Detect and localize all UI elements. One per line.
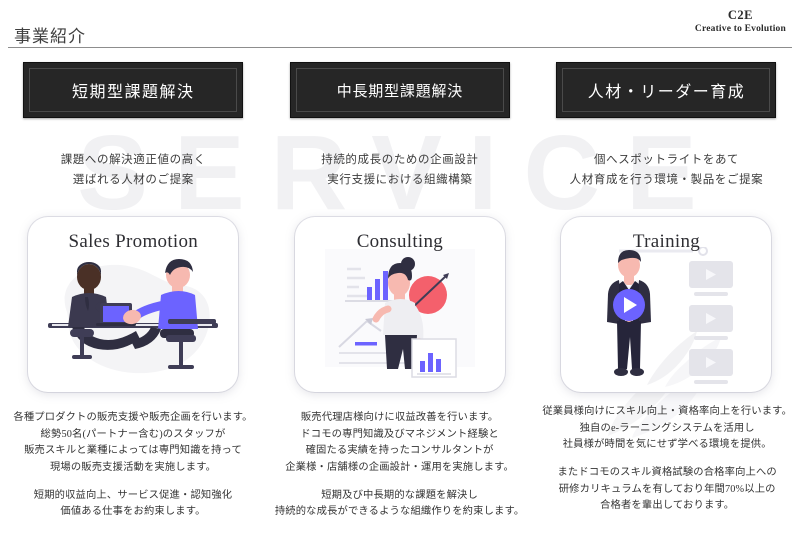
subtitle-line-1: 課題への解決適正値の高く [0, 150, 267, 170]
column-body-text: 従業員様向けにスキル向上・資格率向上を行います。 独自のe-ラーニングシステムを… [527, 404, 800, 515]
paragraph-1-line-1: 各種プロダクトの販売支援や販売企画を行います。 [13, 412, 252, 423]
paragraph-1-line-1: 販売代理店様向けに収益改善を行います。 [301, 412, 498, 423]
brand-logo: C2E Creative to Evolution [695, 8, 786, 36]
column-subtitle: 個へスポットライトをあて 人材育成を行う環境・製品をご提案 [533, 150, 800, 190]
paragraph-2-line-1: 短期及び中長期的な課題を解決し [321, 490, 478, 501]
e-learning-video-man-illustration [561, 247, 771, 392]
brand-name: C2E [695, 8, 786, 24]
service-column-training: 人材・リーダー育成 個へスポットライトをあて 人材育成を行う環境・製品をご提案 … [533, 52, 800, 538]
service-columns: 短期型課題解決 課題への解決適正値の高く 選ばれる人材のご提案 Sales Pr… [0, 52, 800, 538]
paragraph-2-line-2: 価値ある仕事をお約束します。 [60, 506, 205, 517]
banner-talent-leader-development: 人材・リーダー育成 [556, 62, 776, 118]
paragraph-2-line-3: 合格者を輩出しております。 [600, 500, 734, 511]
column-body-text: 販売代理店様向けに収益改善を行います。 ドコモの専門知識及びマネジメント経験と … [261, 410, 539, 521]
banner-short-term: 短期型課題解決 [23, 62, 243, 118]
paragraph-2: 短期的収益向上、サービス促進・認知強化 価値ある仕事をお約束します。 [0, 488, 272, 521]
paragraph-2-line-1: 短期的収益向上、サービス促進・認知強化 [34, 490, 233, 501]
page-title: 事業紹介 [14, 22, 86, 47]
subtitle-line-1: 持続的成長のための企画設計 [267, 150, 534, 170]
data-analysis-woman-illustration [295, 247, 505, 392]
banner-label: 中長期型課題解決 [337, 80, 463, 101]
paragraph-2: 短期及び中長期的な課題を解決し 持続的な成長ができるような組織作りを約束します。 [261, 488, 539, 521]
paragraph-1-line-4: 現場の販売支援活動を実施します。 [50, 462, 216, 473]
card-title: Sales Promotion [28, 231, 238, 253]
video-thumbnails [689, 261, 733, 384]
paragraph-1: 従業員様向けにスキル向上・資格率向上を行います。 独自のe-ラーニングシステムを… [527, 404, 800, 454]
paragraph-2-line-2: 研修カリキュラムを有しており年間70%以上の [559, 484, 776, 495]
service-column-sales-promotion: 短期型課題解決 課題への解決適正値の高く 選ばれる人材のご提案 Sales Pr… [0, 52, 267, 538]
header-divider [8, 47, 792, 48]
paragraph-1-line-2: ドコモの専門知識及びマネジメント経験と [300, 429, 499, 440]
banner-label: 短期型課題解決 [72, 78, 195, 102]
paragraph-1-line-3: 社員様が時間を気にせず学べる環境を提供。 [563, 439, 772, 450]
paragraph-1-line-3: 確固たる実績を持ったコンサルタントが [306, 445, 494, 456]
card-title: Training [561, 231, 771, 253]
paragraph-1-line-2: 独自のe-ラーニングシステムを活用し [580, 423, 755, 434]
paragraph-2: またドコモのスキル資格試験の合格率向上への 研修カリキュラムを有しており年間70… [527, 465, 800, 515]
paragraph-1-line-1: 従業員様向けにスキル向上・資格率向上を行います。 [542, 406, 792, 417]
service-column-consulting: 中長期型課題解決 持続的成長のための企画設計 実行支援における組織構築 Cons… [267, 52, 534, 538]
subtitle-line-2: 実行支援における組織構築 [267, 170, 534, 190]
slide-header: 事業紹介 C2E Creative to Evolution [0, 0, 800, 48]
column-subtitle: 課題への解決適正値の高く 選ばれる人材のご提案 [0, 150, 267, 190]
paragraph-2-line-1: またドコモのスキル資格試験の合格率向上への [557, 467, 776, 478]
service-card-training[interactable]: Training [561, 217, 771, 392]
banner-mid-long-term: 中長期型課題解決 [290, 62, 510, 118]
banner-label: 人材・リーダー育成 [588, 78, 746, 102]
brand-tagline: Creative to Evolution [695, 24, 786, 36]
paragraph-1-line-3: 販売スキルと業種によっては専門知識を持って [24, 445, 242, 456]
handshake-meeting-illustration [28, 247, 238, 392]
column-subtitle: 持続的成長のための企画設計 実行支援における組織構築 [267, 150, 534, 190]
paragraph-2-line-2: 持続的な成長ができるような組織作りを約束します。 [275, 506, 525, 517]
paragraph-1-line-2: 総勢50名(パートナー含む)のスタッフが [41, 429, 226, 440]
subtitle-line-2: 人材育成を行う環境・製品をご提案 [533, 170, 800, 190]
service-card-sales-promotion[interactable]: Sales Promotion [28, 217, 238, 392]
subtitle-line-1: 個へスポットライトをあて [533, 150, 800, 170]
service-card-consulting[interactable]: Consulting [295, 217, 505, 392]
paragraph-1: 各種プロダクトの販売支援や販売企画を行います。 総勢50名(パートナー含む)のス… [0, 410, 272, 477]
paragraph-1: 販売代理店様向けに収益改善を行います。 ドコモの専門知識及びマネジメント経験と … [261, 410, 539, 477]
column-body-text: 各種プロダクトの販売支援や販売企画を行います。 総勢50名(パートナー含む)のス… [0, 410, 272, 521]
subtitle-line-2: 選ばれる人材のご提案 [0, 170, 267, 190]
paragraph-1-line-4: 企業様・店舗様の企画設計・運用を実施します。 [285, 462, 514, 473]
card-title: Consulting [295, 231, 505, 253]
